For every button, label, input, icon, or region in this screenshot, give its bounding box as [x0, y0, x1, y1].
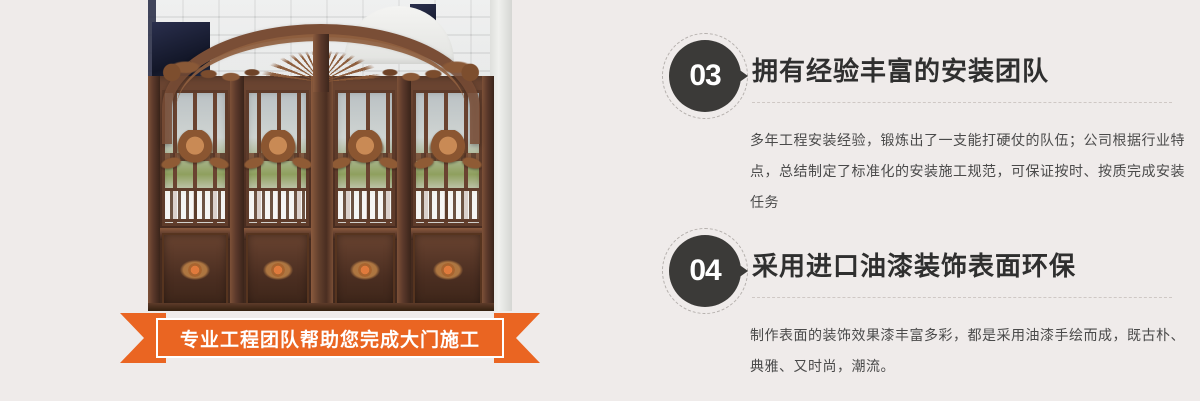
gate-crown-ornament [152, 8, 490, 82]
crown-vine-right [376, 62, 446, 86]
badge-number: 03 [689, 61, 720, 91]
gate-balusters [338, 188, 392, 222]
feature-badge-04: 04 [662, 228, 748, 314]
gate-photo [148, 0, 512, 311]
badge-number: 04 [689, 256, 720, 286]
crown-center-post [313, 34, 329, 92]
feature-divider [752, 297, 1172, 298]
feature-body-text: 多年工程安装经验，锻炼出了一支能打硬仗的队伍；公司根据行业特点，总结制定了标准化… [750, 125, 1195, 218]
ribbon-banner: 专业工程团队帮助您完成大门施工 [120, 313, 540, 363]
gate-lower-panel [413, 233, 482, 307]
crown-finial [290, 8, 352, 42]
gate-photo-image [148, 0, 512, 311]
gate-balusters [165, 188, 225, 222]
ribbon-label: 专业工程团队帮助您完成大门施工 [180, 325, 480, 352]
gate-balusters [249, 188, 306, 222]
badge-pointer-icon [734, 66, 748, 86]
gate-lower-panel [246, 233, 309, 307]
feature-badge-03: 03 [662, 33, 748, 119]
gate-rosette [427, 255, 469, 285]
gate-stile [148, 76, 160, 311]
promo-banner: 专业工程团队帮助您完成大门施工 03 拥有经验丰富的安装团队 多年工程安装经验，… [0, 0, 1200, 401]
crown-vine-left [196, 62, 266, 86]
gate-rosette [344, 255, 386, 285]
feature-heading: 采用进口油漆装饰表面环保 [752, 246, 1076, 283]
gate-rosette [257, 255, 299, 285]
gate-bottom-rail [148, 303, 494, 311]
gate-stile [482, 76, 494, 311]
gate-rosette [174, 255, 216, 285]
gate-balusters [416, 188, 479, 222]
badge-pointer-icon [734, 261, 748, 281]
gate-lower-panel [335, 233, 395, 307]
badge-circle: 04 [669, 235, 741, 307]
feature-divider [752, 102, 1172, 103]
badge-circle: 03 [669, 40, 741, 112]
gate-lower-panel [162, 233, 228, 307]
ribbon-body: 专业工程团队帮助您完成大门施工 [156, 318, 504, 358]
feature-heading: 拥有经验丰富的安装团队 [752, 51, 1049, 88]
feature-body-text: 制作表面的装饰效果漆丰富多彩，都是采用油漆手绘而成，既古朴、典雅、又时尚，潮流。 [750, 320, 1195, 382]
